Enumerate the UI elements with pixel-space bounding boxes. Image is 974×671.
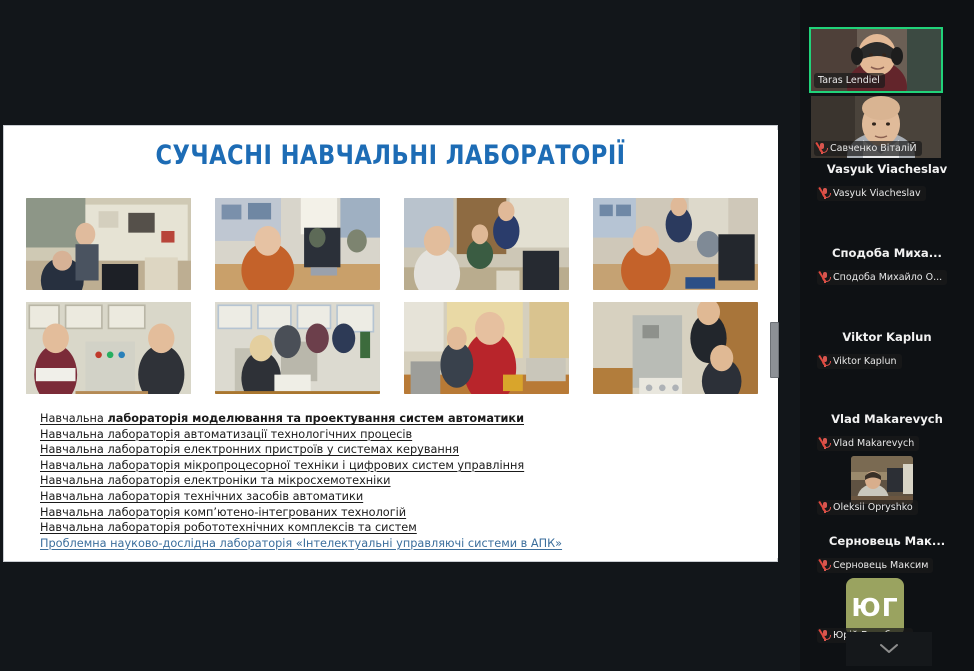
lab-list-item-label: Навчальна лабораторія робототехнічних ко… [40,521,417,534]
lab-photo [26,198,191,290]
slide-title: СУЧАСНІ НАВЧАЛЬНІ ЛАБОРАТОРІЇ [31,126,750,171]
mic-muted-icon [821,272,829,283]
presentation-slide[interactable]: СУЧАСНІ НАВЧАЛЬНІ ЛАБОРАТОРІЇ [3,125,778,562]
lab-photo [593,198,758,290]
lab-list-item-label: Навчальна лабораторія мікропроцесорної т… [40,459,524,472]
lab-list-item[interactable]: Навчальна лабораторія моделювання та про… [40,411,767,427]
lab-list-item-prefix: Навчальна [40,412,107,425]
participant-name-badge: Серновець Максим [817,558,933,573]
participant-placeholder-name: Сподоба Миха... [800,246,974,260]
lab-list-item[interactable]: Навчальна лабораторія електроніки та мік… [40,473,767,489]
participant-tile[interactable]: Viktor Kaplun Viktor Kaplun [800,310,974,394]
participant-placeholder-name: Vlad Makarevych [800,412,974,426]
avatar-initials-text: ЮГ [851,593,898,622]
shared-screen-scrollbar-thumb[interactable] [770,322,779,378]
participant-video-feed[interactable] [851,456,913,504]
lab-list-item[interactable]: Навчальна лабораторія мікропроцесорної т… [40,458,767,474]
chevron-down-icon [879,643,899,655]
participant-name: Сподоба Михайло О... [833,271,942,284]
participant-placeholder-name: Серновець Мак... [800,534,974,548]
mic-muted-icon [821,560,829,571]
participant-tile[interactable]: Taras Lendiel [800,0,974,72]
participant-name: Vasyuk Viacheslav [833,187,921,200]
participants-rail[interactable]: Taras Lendiel [800,0,974,671]
participant-name-badge: Viktor Kaplun [817,354,902,369]
lab-list-item[interactable]: Навчальна лабораторія електронних пристр… [40,442,767,458]
lab-list-item-label: Навчальна лабораторія автоматизації техн… [40,428,412,441]
lab-list-item-label: Навчальна лабораторія електроніки та мік… [40,474,391,487]
lab-photo [593,302,758,394]
lab-list-item-bold: лабораторія моделювання та проектування … [107,412,524,425]
participant-placeholder-name: Viktor Kaplun [800,330,974,344]
mic-muted-icon [821,502,829,513]
lab-list: Навчальна лабораторія моделювання та про… [40,411,767,551]
participant-tile[interactable]: Савченко ВіталіЙ [800,72,974,142]
participant-tile[interactable]: Oleksii Opryshko [800,456,974,514]
participant-name-badge: Vlad Makarevych [817,436,919,451]
participant-name: Vlad Makarevych [833,437,914,450]
lab-photo [404,302,569,394]
participant-name-badge: Сподоба Михайло О... [817,270,947,285]
mic-muted-icon [821,356,829,367]
participant-tile[interactable]: Vasyuk Viacheslav Vasyuk Viacheslav [800,142,974,226]
lab-list-item-link[interactable]: Проблемна науково-дослідна лабораторія «… [40,536,767,552]
conference-window: СУЧАСНІ НАВЧАЛЬНІ ЛАБОРАТОРІЇ [0,0,974,671]
participant-name-badge: Oleksii Opryshko [817,500,918,515]
mic-muted-icon [821,438,829,449]
lab-photo [404,198,569,290]
lab-list-item-label: Навчальна лабораторія технічних засобів … [40,490,363,503]
participant-placeholder-name: Vasyuk Viacheslav [800,162,974,176]
participant-tile[interactable]: Vlad Makarevych Vlad Makarevych [800,394,974,456]
lab-list-item-label: Навчальна лабораторія комп’ютено-інтегро… [40,506,406,519]
participant-tile[interactable]: Серновець Мак... Серновець Максим [800,514,974,576]
participant-name: Viktor Kaplun [833,355,897,368]
mic-muted-icon [821,188,829,199]
lab-list-item[interactable]: Навчальна лабораторія комп’ютено-інтегро… [40,505,767,521]
lab-photo [215,302,380,394]
lab-photo [26,302,191,394]
lab-list-item[interactable]: Навчальна лабораторія технічних засобів … [40,489,767,505]
lab-list-item[interactable]: Навчальна лабораторія робототехнічних ко… [40,520,767,536]
lab-list-item[interactable]: Навчальна лабораторія автоматизації техн… [40,427,767,443]
scroll-more-participants-button[interactable] [846,632,932,666]
lab-photo-grid [26,198,758,394]
participant-name-badge: Vasyuk Viacheslav [817,186,926,201]
lab-list-item-label: Проблемна науково-дослідна лабораторія «… [40,537,562,550]
lab-photo [215,198,380,290]
lab-list-item-label: Навчальна лабораторія електронних пристр… [40,443,459,456]
participant-name: Oleksii Opryshko [833,501,913,514]
mic-muted-icon [821,630,829,641]
shared-screen-stage[interactable]: СУЧАСНІ НАВЧАЛЬНІ ЛАБОРАТОРІЇ [0,0,800,671]
participant-tile[interactable]: Сподоба Миха... Сподоба Михайло О... [800,226,974,310]
participant-name: Серновець Максим [833,559,928,572]
